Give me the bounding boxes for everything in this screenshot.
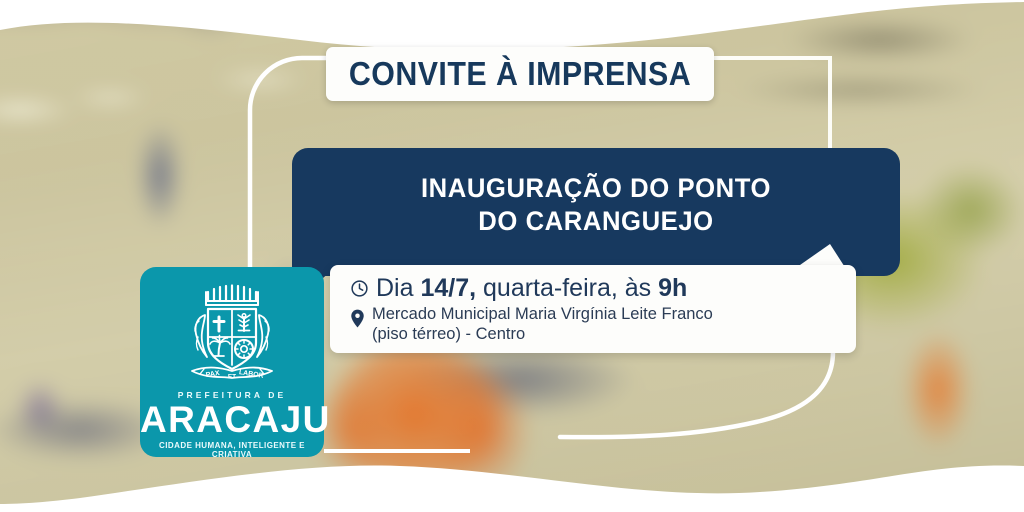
header-pill: CONVITE À IMPRENSA (326, 47, 714, 101)
logo-slogan: CIDADE HUMANA, INTELIGENTE E CRIATIVA (140, 441, 324, 459)
clock-icon (350, 279, 369, 298)
aracaju-coat-of-arms-icon: PAX ET LABOR (178, 281, 286, 393)
event-location-text: Mercado Municipal Maria Virgínia Leite F… (372, 304, 713, 344)
time-value: 9h (658, 274, 687, 302)
crest-motto-right: LABOR (238, 369, 264, 380)
event-details-box: Dia 14/7, quarta-feira, às 9h Mercado Mu… (330, 265, 856, 353)
crest-motto-mid: ET (228, 374, 236, 381)
header-label: CONVITE À IMPRENSA (349, 55, 691, 93)
date-value: 14/7, (420, 274, 476, 302)
event-date-text: Dia 14/7, quarta-feira, às 9h (376, 274, 687, 303)
headline-text: INAUGURAÇÃO DO PONTO DO CARANGUEJO (307, 172, 885, 238)
event-date-row: Dia 14/7, quarta-feira, às 9h (350, 274, 846, 303)
aracaju-logo-card: PAX ET LABOR PREFEITURA DE ARACAJU CIDAD… (140, 267, 324, 457)
date-middle: quarta-feira, às (476, 274, 658, 302)
event-location-row: Mercado Municipal Maria Virgínia Leite F… (350, 304, 846, 344)
headline-line-2: DO CARANGUEJO (307, 205, 885, 238)
logo-city-name: ARACAJU (140, 398, 324, 442)
date-prefix: Dia (376, 274, 420, 302)
location-line-1: Mercado Municipal Maria Virgínia Leite F… (372, 305, 713, 323)
headline-line-1: INAUGURAÇÃO DO PONTO (421, 173, 771, 203)
press-invitation-poster: CONVITE À IMPRENSA INAUGURAÇÃO DO PONTO … (0, 0, 1024, 512)
location-line-2: (piso térreo) - Centro (372, 324, 713, 344)
map-pin-icon (350, 309, 365, 328)
